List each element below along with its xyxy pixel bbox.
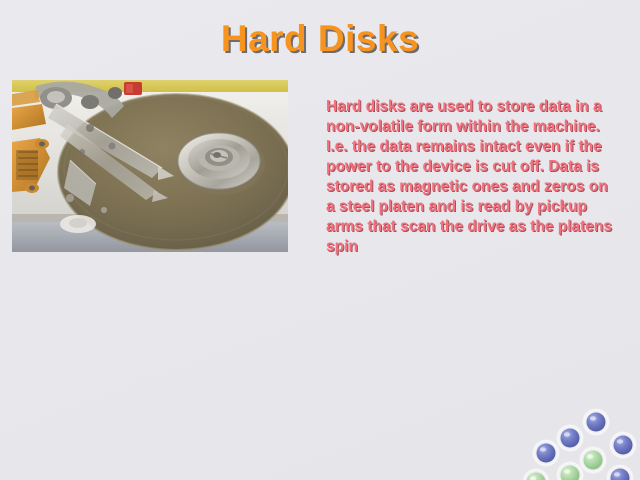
page-title: Hard Disks	[0, 18, 640, 60]
bubble	[532, 439, 560, 467]
bubble-cluster-icon	[500, 400, 640, 480]
bubble	[609, 431, 637, 459]
bubble	[579, 446, 607, 474]
bubble	[556, 424, 584, 452]
bubble	[606, 464, 634, 480]
bubble	[556, 461, 584, 480]
hard-disk-photo	[12, 80, 288, 252]
body-paragraph: Hard disks are used to store data in a n…	[326, 97, 618, 257]
bubble	[522, 468, 550, 480]
slide-canvas: Hard Disks	[0, 0, 640, 480]
bubble-cluster-decoration	[500, 400, 640, 480]
hard-disk-photo-illustration	[12, 80, 288, 252]
bubble	[582, 408, 610, 436]
